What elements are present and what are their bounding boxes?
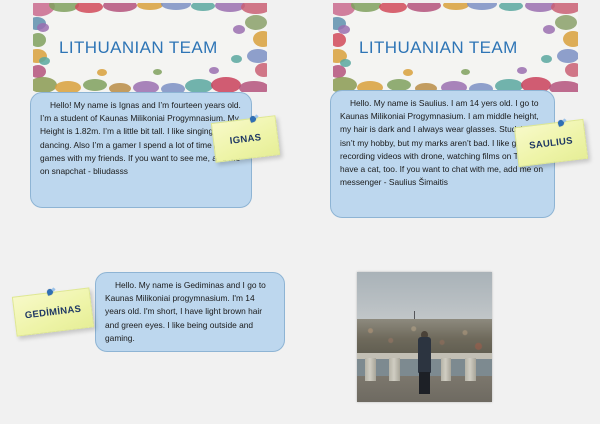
sticky-note-gediminas-label: GEDİMİNAS <box>24 303 81 321</box>
pushpin-icon <box>46 288 55 297</box>
banner-right: LITHUANIAN TEAM <box>333 3 578 92</box>
photo-baluster <box>365 358 376 381</box>
photo-baluster <box>389 358 400 381</box>
bubble-gediminas: Hello. My name is Gediminas and I go to … <box>95 272 285 352</box>
photo-sky <box>357 272 492 321</box>
sticky-note-saulius-label: SAULIUS <box>529 135 574 151</box>
banner-right-title: LITHUANIAN TEAM <box>333 38 518 58</box>
photo-gediminas-at-overlook <box>357 272 492 402</box>
bubble-ignas-text: Hello! My name is Ignas and I’m fourteen… <box>40 99 242 178</box>
banner-left-title: LITHUANIAN TEAM <box>33 38 218 58</box>
photo-person-legs <box>419 372 430 394</box>
pushpin-icon <box>249 115 258 124</box>
photo-baluster <box>441 358 452 381</box>
pushpin-icon <box>557 119 566 128</box>
slide-canvas: LITHUANIAN TEAM <box>0 0 600 424</box>
sticky-note-saulius: SAULIUS <box>514 119 588 167</box>
sticky-note-ignas: IGNAS <box>211 115 280 163</box>
bubble-gediminas-text: Hello. My name is Gediminas and I go to … <box>105 279 275 345</box>
photo-person-body <box>418 337 432 373</box>
bubble-saulius-text: Hello. My name is Saulius. I am 14 yers … <box>340 97 545 189</box>
photo-baluster <box>465 358 476 381</box>
sticky-note-ignas-label: IGNAS <box>229 132 262 147</box>
banner-left: LITHUANIAN TEAM <box>33 3 267 92</box>
